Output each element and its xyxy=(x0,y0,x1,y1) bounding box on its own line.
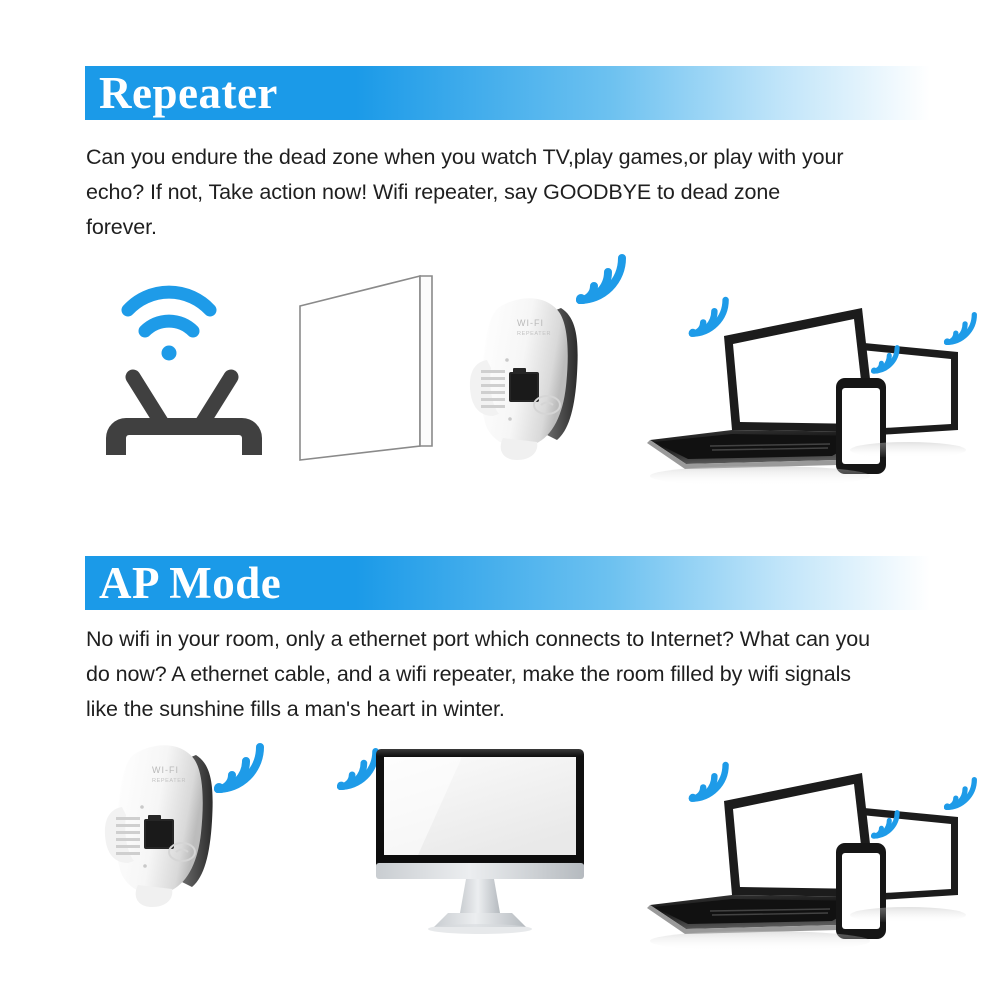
infographic-page: Repeater Can you endure the dead zone wh… xyxy=(0,0,1000,1000)
device-cluster-repeater xyxy=(640,290,980,495)
section-body-ap-mode: No wifi in your room, only a ethernet po… xyxy=(86,622,876,727)
section-heading-ap-mode: AP Mode xyxy=(85,561,281,606)
wifi-router-icon xyxy=(100,255,280,460)
section-body-repeater: Can you endure the dead zone when you wa… xyxy=(86,140,856,245)
section-heading-repeater: Repeater xyxy=(85,71,278,116)
wall-barrier xyxy=(292,268,452,473)
wifi-signal-icon-repeater-ap xyxy=(208,737,270,799)
svg-text:WI-FI: WI-FI xyxy=(517,318,544,328)
svg-text:REPEATER: REPEATER xyxy=(517,331,551,337)
desktop-monitor xyxy=(370,745,600,950)
svg-text:REPEATER: REPEATER xyxy=(152,778,186,784)
section-banner-ap-mode: AP Mode xyxy=(85,556,930,610)
section-banner-repeater: Repeater xyxy=(85,66,930,120)
device-cluster-ap xyxy=(640,755,980,960)
svg-text:WI-FI: WI-FI xyxy=(152,765,179,775)
illustration-ap-mode: WI-FI REPEATER xyxy=(80,725,980,955)
illustration-repeater: WI-FI REPEATER xyxy=(80,240,980,490)
wifi-repeater-device: WI-FI REPEATER xyxy=(465,288,595,468)
